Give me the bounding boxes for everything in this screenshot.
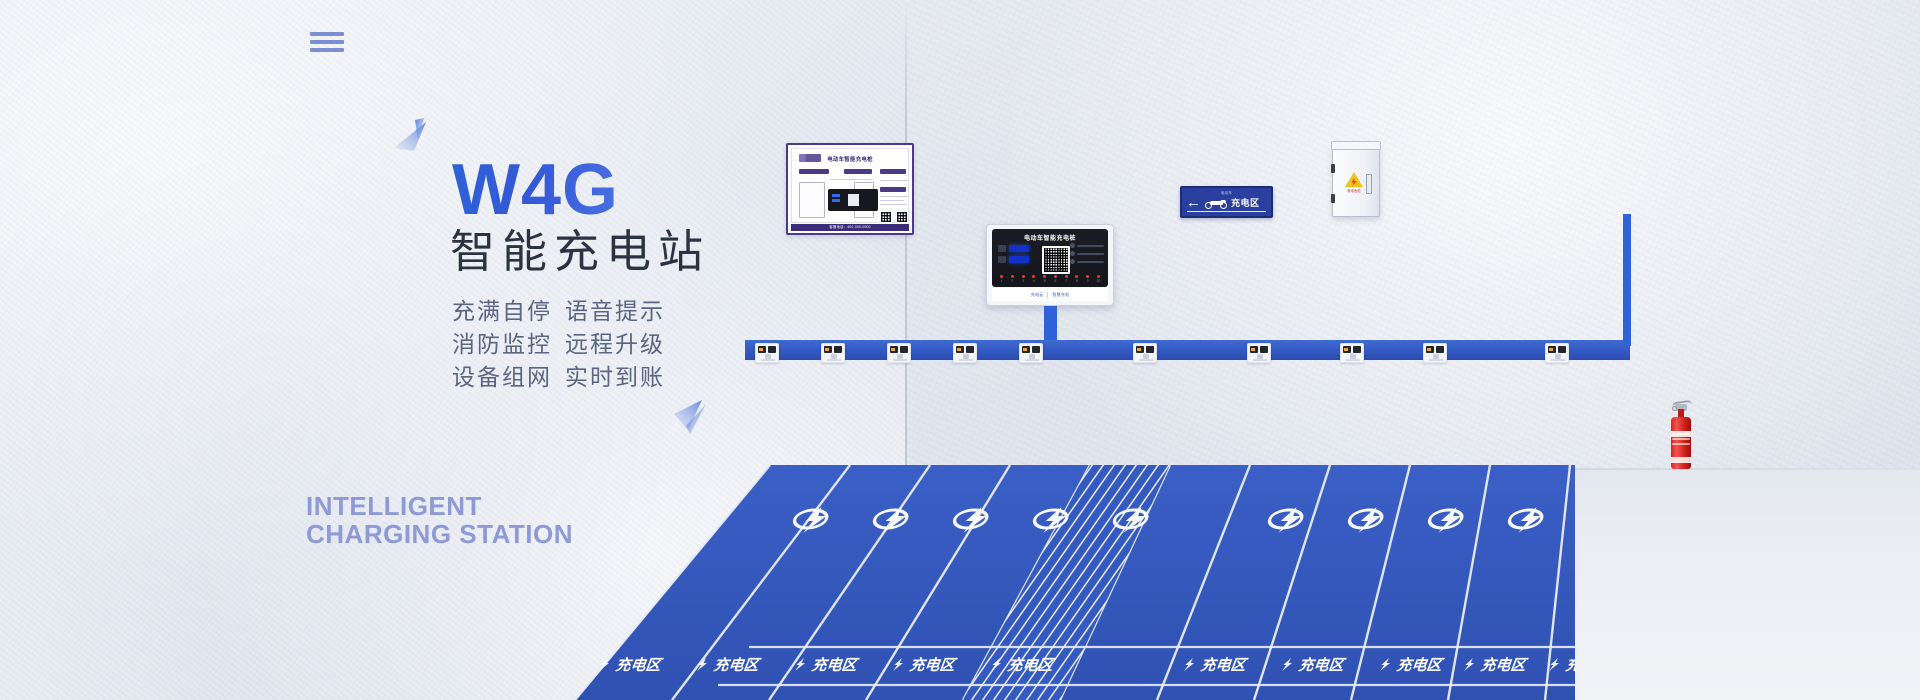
cabinet-conduit — [1623, 214, 1631, 346]
cabinet-top-cap — [1331, 141, 1381, 150]
decor-arrow-bottom — [672, 398, 716, 440]
power-outlet-icon[interactable] — [953, 343, 977, 363]
feature-item: 语音提示 — [565, 296, 715, 329]
pile-led-label-2 — [998, 256, 1006, 263]
parking-lot-svg: 充电区 充电区 充电区 充电区 充电区 充电区 充电区 充电区 充电区 充电区 — [575, 465, 1575, 700]
outlet-slot-right — [1436, 346, 1444, 353]
pile-brand-footer: 充电云 智慧充电 — [992, 288, 1108, 301]
pile-port[interactable]: 7 — [1063, 275, 1070, 283]
pile-info-row — [1070, 251, 1104, 256]
pile-port-led — [1043, 275, 1046, 278]
outlet-base — [1551, 359, 1565, 361]
bay-label: 充电区 — [1479, 656, 1531, 674]
outlet-slot-right — [1558, 346, 1566, 353]
pile-info-row — [1070, 243, 1104, 248]
pile-port[interactable]: 2 — [1009, 275, 1016, 283]
outlet-base — [1253, 359, 1267, 361]
pile-port-led — [1000, 275, 1003, 278]
pile-port-led — [1022, 275, 1025, 278]
poster-footer: 客服电话：400-000-0000 — [791, 224, 909, 231]
pile-port-number: 8 — [1073, 279, 1080, 283]
pile-info-bar — [1077, 245, 1104, 247]
poster-divider — [830, 179, 872, 180]
hamburger-bar-1 — [310, 32, 344, 36]
outlet-slot-right — [1146, 346, 1154, 353]
feature-row: 消防监控 远程升级 — [452, 329, 715, 362]
warning-label: 有电危险 — [1345, 188, 1363, 193]
outlet-base — [1025, 359, 1039, 361]
pile-port[interactable]: 3 — [1020, 275, 1027, 283]
outlet-base — [1139, 359, 1153, 361]
scooter-icon — [1205, 197, 1227, 209]
outlet-base — [893, 359, 907, 361]
hamburger-icon[interactable] — [310, 32, 344, 56]
feature-item: 设备组网 — [452, 362, 565, 395]
pile-brand-name: 充电云 — [1031, 292, 1044, 298]
poster-divider — [880, 204, 906, 205]
power-outlet-icon[interactable] — [1545, 343, 1569, 363]
extinguisher-label-line — [1672, 433, 1690, 435]
outlet-base — [1346, 359, 1360, 361]
wall-power-rail — [745, 340, 1630, 360]
pile-port[interactable]: 8 — [1073, 275, 1080, 283]
power-outlet-icon[interactable] — [821, 343, 845, 363]
poster-device-led — [832, 199, 840, 202]
poster-device-image — [828, 189, 878, 211]
english-tagline-line2: CHARGING STATION — [306, 520, 573, 548]
pile-info-icon — [1070, 251, 1075, 256]
pile-info-row — [1070, 259, 1104, 264]
parking-lot: 充电区 充电区 充电区 充电区 充电区 充电区 充电区 充电区 充电区 充电区 — [575, 465, 1575, 700]
outlet-slot-left — [758, 346, 766, 353]
poster-divider — [880, 196, 908, 197]
pile-port-led — [1086, 275, 1089, 278]
charging-pile-title: 电动车智能充电桩 — [992, 233, 1108, 242]
high-voltage-icon: 有电危险 — [1345, 172, 1363, 193]
bay-label: 充电区 — [810, 656, 862, 674]
pile-port-number: 6 — [1052, 279, 1059, 283]
pile-brand-divider — [1047, 292, 1048, 298]
pile-port-led — [1032, 275, 1035, 278]
pile-port-led — [1011, 275, 1014, 278]
pile-port-led — [1054, 275, 1057, 278]
poster-qr-wechat — [880, 211, 892, 223]
pile-port-led — [1065, 275, 1068, 278]
extinguisher-band-lower — [1671, 457, 1691, 463]
wall-corner-edge — [905, 0, 907, 470]
feature-item: 远程升级 — [565, 329, 715, 362]
english-tagline: INTELLIGENT CHARGING STATION — [306, 492, 573, 548]
electrical-cabinet: 有电危险 — [1332, 145, 1380, 217]
pile-port-number: 9 — [1084, 279, 1091, 283]
bay-label: 充电区 — [1395, 656, 1447, 674]
outlet-slot-left — [890, 346, 898, 353]
poster-device-led — [832, 194, 840, 197]
feature-item: 充满自停 — [452, 296, 565, 329]
poster-tag-4 — [880, 187, 906, 192]
poster-flow-panel — [799, 182, 825, 218]
pile-info-bar — [1077, 261, 1104, 263]
cabinet-hinge-upper — [1331, 164, 1335, 173]
pile-led-display-2 — [1009, 256, 1029, 263]
poster-divider — [880, 200, 904, 201]
extinguisher-gauge — [1672, 406, 1677, 411]
arrow-left-icon: ← — [1186, 197, 1201, 209]
feature-item: 消防监控 — [452, 329, 565, 362]
poster-tag-1 — [799, 169, 829, 174]
pile-port-row: 1 2 3 4 5 6 7 8 9 10 — [998, 275, 1102, 283]
poster-qr-alipay — [896, 211, 908, 223]
outlet-slot-left — [1343, 346, 1351, 353]
feature-item: 实时到账 — [565, 362, 715, 395]
direction-sign: 电动车 ← 充电区 — [1180, 186, 1273, 218]
outlet-slot-right — [1353, 346, 1361, 353]
pile-port[interactable]: 9 — [1084, 275, 1091, 283]
extinguisher-label-line — [1672, 438, 1690, 440]
charging-pile-unit: 电动车智能充电桩 1 2 3 4 5 6 7 8 9 10 — [986, 224, 1114, 306]
pile-led-display-1 — [1009, 245, 1029, 252]
power-outlet-icon[interactable] — [1340, 343, 1364, 363]
outlet-slot-right — [768, 346, 776, 353]
extinguisher-label-line — [1672, 443, 1690, 445]
direction-sign-underline — [1187, 211, 1266, 212]
outlet-base — [959, 359, 973, 361]
poster-device-qr — [848, 194, 859, 206]
outlet-slot-right — [900, 346, 908, 353]
poster-tag-3 — [880, 169, 906, 174]
power-outlet-icon[interactable] — [1247, 343, 1271, 363]
pile-port[interactable]: 1 — [998, 275, 1005, 283]
pile-qr-code[interactable] — [1042, 246, 1070, 274]
outlet-base — [1429, 359, 1443, 361]
outlet-base — [827, 359, 841, 361]
pile-port-number: 1 — [998, 279, 1005, 283]
bay-label: 充电区 — [1199, 656, 1251, 674]
bay-label: 充电区 — [712, 656, 764, 674]
pile-info-panel — [1070, 243, 1104, 267]
outlet-slot-right — [1260, 346, 1268, 353]
pile-port-number: 10 — [1095, 279, 1102, 283]
direction-sign-label: 充电区 — [1231, 196, 1260, 209]
bay-label: 充电区 — [614, 656, 666, 674]
poster-divider — [880, 180, 908, 181]
outlet-slot-left — [1548, 346, 1556, 353]
outlet-base — [761, 359, 775, 361]
power-outlet-icon[interactable] — [755, 343, 779, 363]
banner-root: W4G 智能充电站 充满自停 语音提示 消防监控 远程升级 设备组网 实时到账 … — [0, 0, 1920, 700]
extinguisher-label — [1672, 433, 1690, 449]
pile-port-number: 5 — [1041, 279, 1048, 283]
feature-row: 设备组网 实时到账 — [452, 362, 715, 395]
hamburger-bar-3 — [310, 48, 344, 52]
warning-triangle — [1345, 172, 1363, 187]
pile-port[interactable]: 6 — [1052, 275, 1059, 283]
poster-tag-2 — [844, 169, 872, 174]
pile-port-number: 7 — [1063, 279, 1070, 283]
pile-port-led — [1075, 275, 1078, 278]
outlet-slot-right — [966, 346, 974, 353]
fire-extinguisher-icon — [1668, 399, 1694, 469]
pile-led-label-1 — [998, 245, 1006, 252]
power-outlet-icon[interactable] — [1019, 343, 1043, 363]
pile-port[interactable]: 10 — [1095, 275, 1102, 283]
outlet-slot-left — [956, 346, 964, 353]
pile-port-number: 2 — [1009, 279, 1016, 283]
outlet-slot-left — [1022, 346, 1030, 353]
power-outlet-icon[interactable] — [1423, 343, 1447, 363]
pile-port-number: 3 — [1020, 279, 1027, 283]
pile-port-number: 4 — [1030, 279, 1037, 283]
outlet-slot-left — [1136, 346, 1144, 353]
charging-pile-screen: 电动车智能充电桩 1 2 3 4 5 6 7 8 9 10 — [992, 229, 1108, 287]
cabinet-handle[interactable] — [1366, 174, 1372, 194]
pile-info-icon — [1070, 243, 1075, 248]
pile-port[interactable]: 4 — [1030, 275, 1037, 283]
pile-qr-pattern — [1044, 248, 1068, 272]
hamburger-bar-2 — [310, 40, 344, 44]
poster-inner: 电动车智能充电桩 — [791, 148, 909, 223]
charging-pile-pole — [1044, 306, 1057, 342]
outlet-slot-right — [1032, 346, 1040, 353]
wall-poster: 电动车智能充电桩 客服电话：400-000-0000 — [786, 143, 914, 235]
pile-port[interactable]: 5 — [1041, 275, 1048, 283]
cabinet-hinge-lower — [1331, 194, 1335, 203]
outlet-slot-left — [1426, 346, 1434, 353]
bay-label: 充电区 — [908, 656, 960, 674]
outlet-slot-right — [834, 346, 842, 353]
bay-label: 充电区 — [1006, 656, 1058, 674]
power-outlet-icon[interactable] — [1133, 343, 1157, 363]
feature-list: 充满自停 语音提示 消防监控 远程升级 设备组网 实时到账 — [452, 296, 715, 395]
power-outlet-icon[interactable] — [887, 343, 911, 363]
english-tagline-line1: INTELLIGENT — [306, 492, 573, 520]
pile-info-icon — [1070, 259, 1075, 264]
scooter-handlebar — [1220, 200, 1227, 203]
pile-info-bar — [1077, 253, 1104, 255]
bay-label: 充电区 — [1297, 656, 1349, 674]
page-subtitle: 智能充电站 — [450, 215, 710, 280]
outlet-slot-left — [1250, 346, 1258, 353]
direction-sign-row: ← 充电区 — [1186, 196, 1267, 209]
outlet-slot-left — [824, 346, 832, 353]
pile-port-led — [1097, 275, 1100, 278]
poster-title: 电动车智能充电桩 — [792, 155, 908, 163]
pile-partner-name: 智慧充电 — [1052, 292, 1069, 298]
feature-row: 充满自停 语音提示 — [452, 296, 715, 329]
decor-arrow-top — [392, 118, 438, 162]
